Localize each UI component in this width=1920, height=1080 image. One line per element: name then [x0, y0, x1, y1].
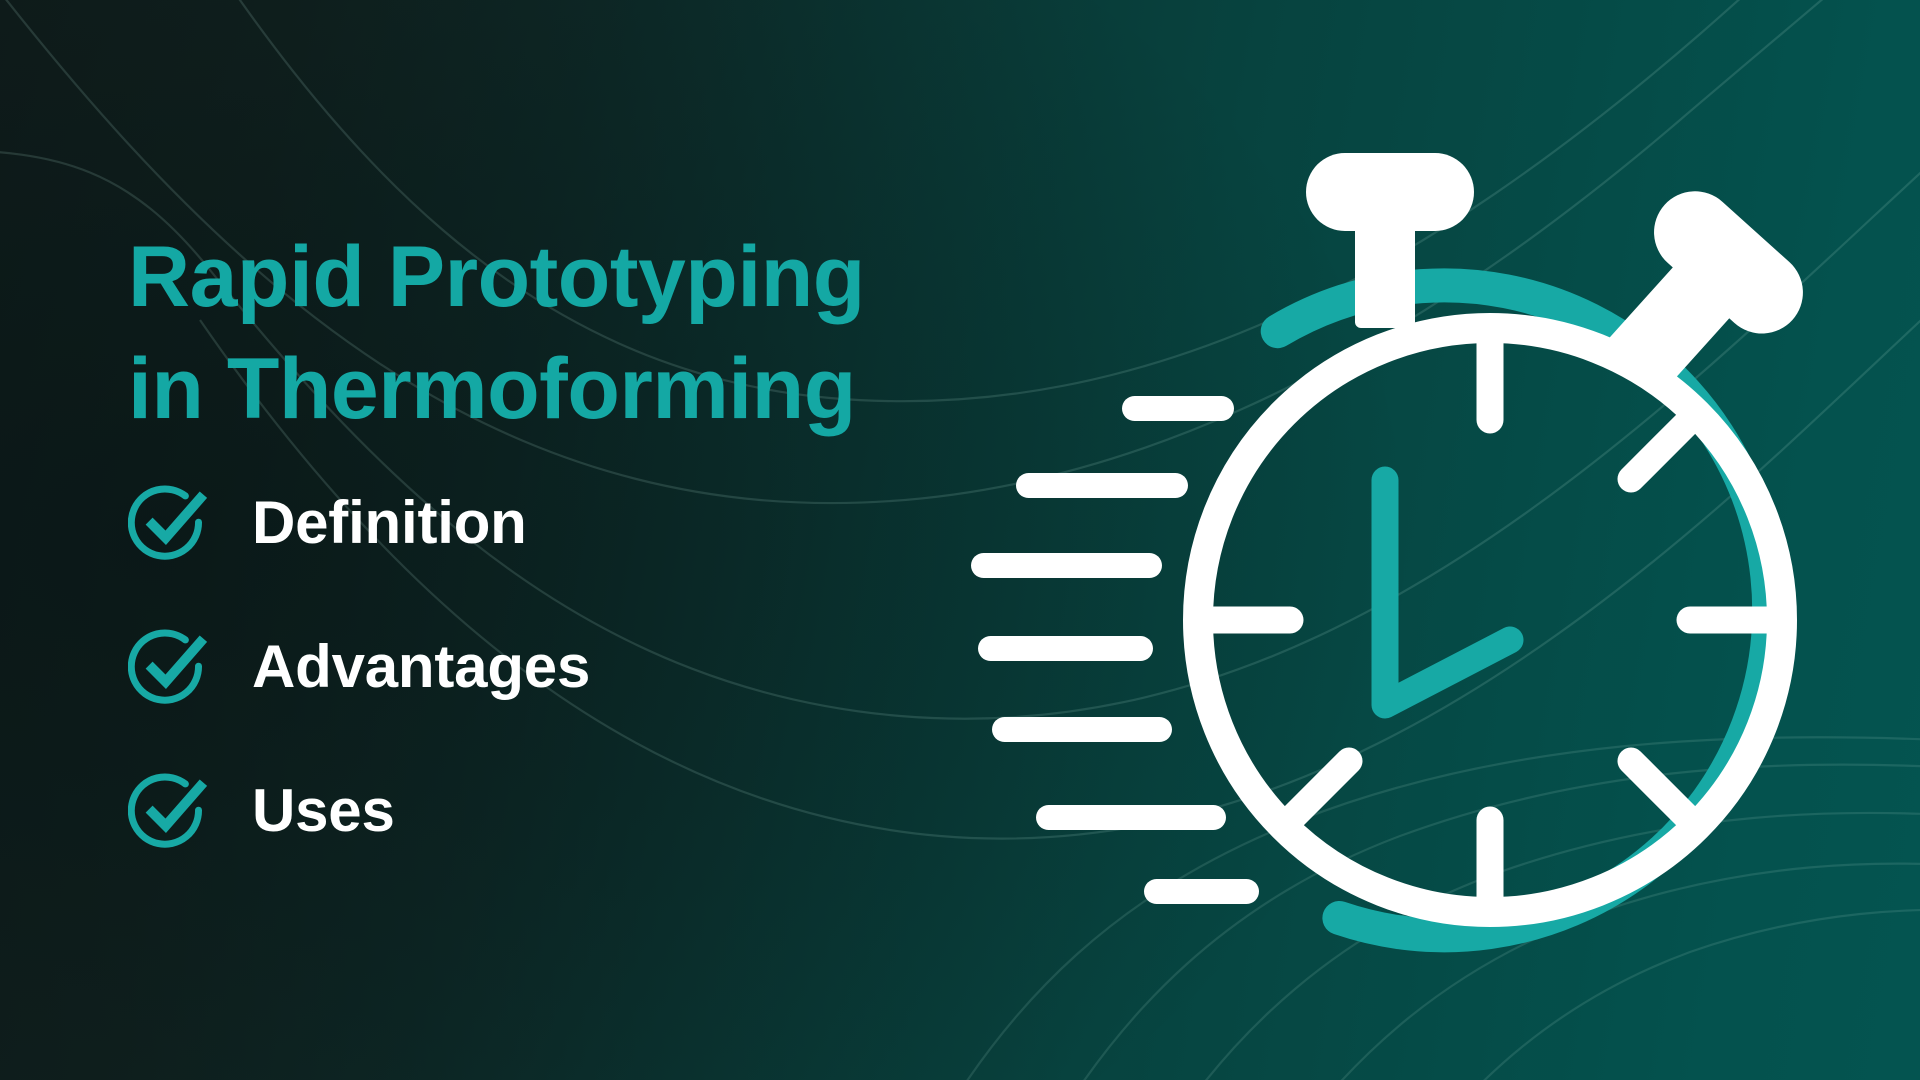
check-circle-icon [128, 482, 210, 564]
speed-lines [971, 396, 1259, 904]
list-item-label: Advantages [252, 637, 590, 697]
stopwatch-hour-hand [1385, 480, 1510, 705]
check-circle-icon [128, 626, 210, 708]
stopwatch-hands [1385, 480, 1510, 705]
check-circle-icon [128, 770, 210, 852]
list-item-label: Uses [252, 781, 395, 841]
slide-canvas: Rapid Prototyping in Thermoforming Defin… [0, 0, 1920, 1080]
list-item-label: Definition [252, 493, 527, 553]
speeding-stopwatch-illustration [760, 0, 1920, 1080]
